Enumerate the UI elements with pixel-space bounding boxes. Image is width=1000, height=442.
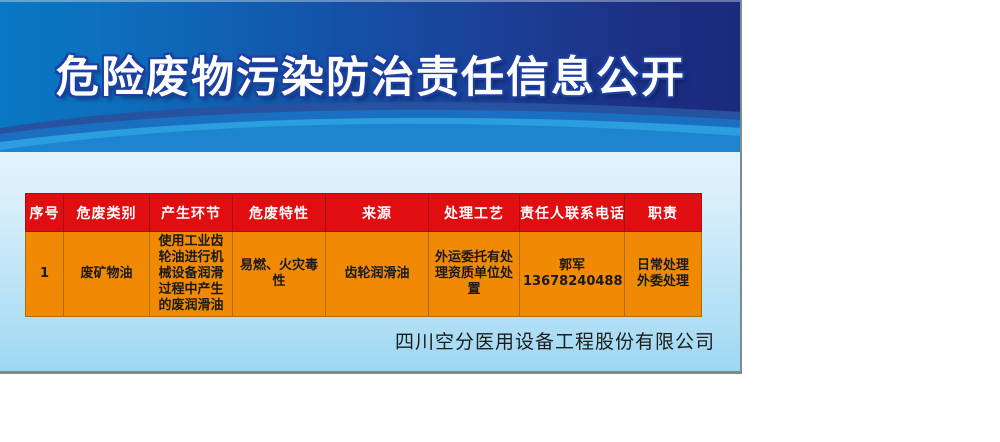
cell-contact: 郭军 13678240488: [520, 232, 625, 317]
poster-header-banner: 危险废物污染防治责任信息公开: [0, 0, 742, 152]
col-header-contact: 责任人联系电话: [520, 194, 625, 232]
col-header-source: 来源: [326, 194, 429, 232]
hazardous-waste-table-wrapper: 序号 危废类别 产生环节 危废特性 来源 处理工艺 责任人联系电话 职责 1 废…: [25, 193, 701, 317]
hazardous-waste-table: 序号 危废类别 产生环节 危废特性 来源 处理工艺 责任人联系电话 职责 1 废…: [25, 193, 702, 317]
col-header-duty: 职责: [625, 194, 702, 232]
cell-characteristics: 易燃、火灾毒性: [233, 232, 326, 317]
col-header-category: 危废类别: [64, 194, 150, 232]
col-header-stage: 产生环节: [150, 194, 233, 232]
cell-treatment-process: 外运委托有处理资质单位处置: [429, 232, 520, 317]
screenshot-root: 危险废物污染防治责任信息公开 序号 危废类别 产生环节 危废特性 来源 处理工艺: [0, 0, 1000, 442]
page-title: 危险废物污染防治责任信息公开: [0, 52, 742, 104]
table-row: 1 废矿物油 使用工业齿轮油进行机械设备润滑过程中产生的废润滑油 易燃、火灾毒性…: [26, 232, 702, 317]
cell-duty: 日常处理 外委处理: [625, 232, 702, 317]
col-header-characteristics: 危废特性: [233, 194, 326, 232]
col-header-index: 序号: [26, 194, 64, 232]
cell-index: 1: [26, 232, 64, 317]
cell-category: 废矿物油: [64, 232, 150, 317]
company-name-footer: 四川空分医用设备工程股份有限公司: [0, 327, 715, 354]
cell-generation-stage: 使用工业齿轮油进行机械设备润滑过程中产生的废润滑油: [150, 232, 233, 317]
table-header-row: 序号 危废类别 产生环节 危废特性 来源 处理工艺 责任人联系电话 职责: [26, 194, 702, 232]
col-header-treatment: 处理工艺: [429, 194, 520, 232]
poster-board: 危险废物污染防治责任信息公开 序号 危废类别 产生环节 危废特性 来源 处理工艺: [0, 0, 742, 374]
cell-source: 齿轮润滑油: [326, 232, 429, 317]
